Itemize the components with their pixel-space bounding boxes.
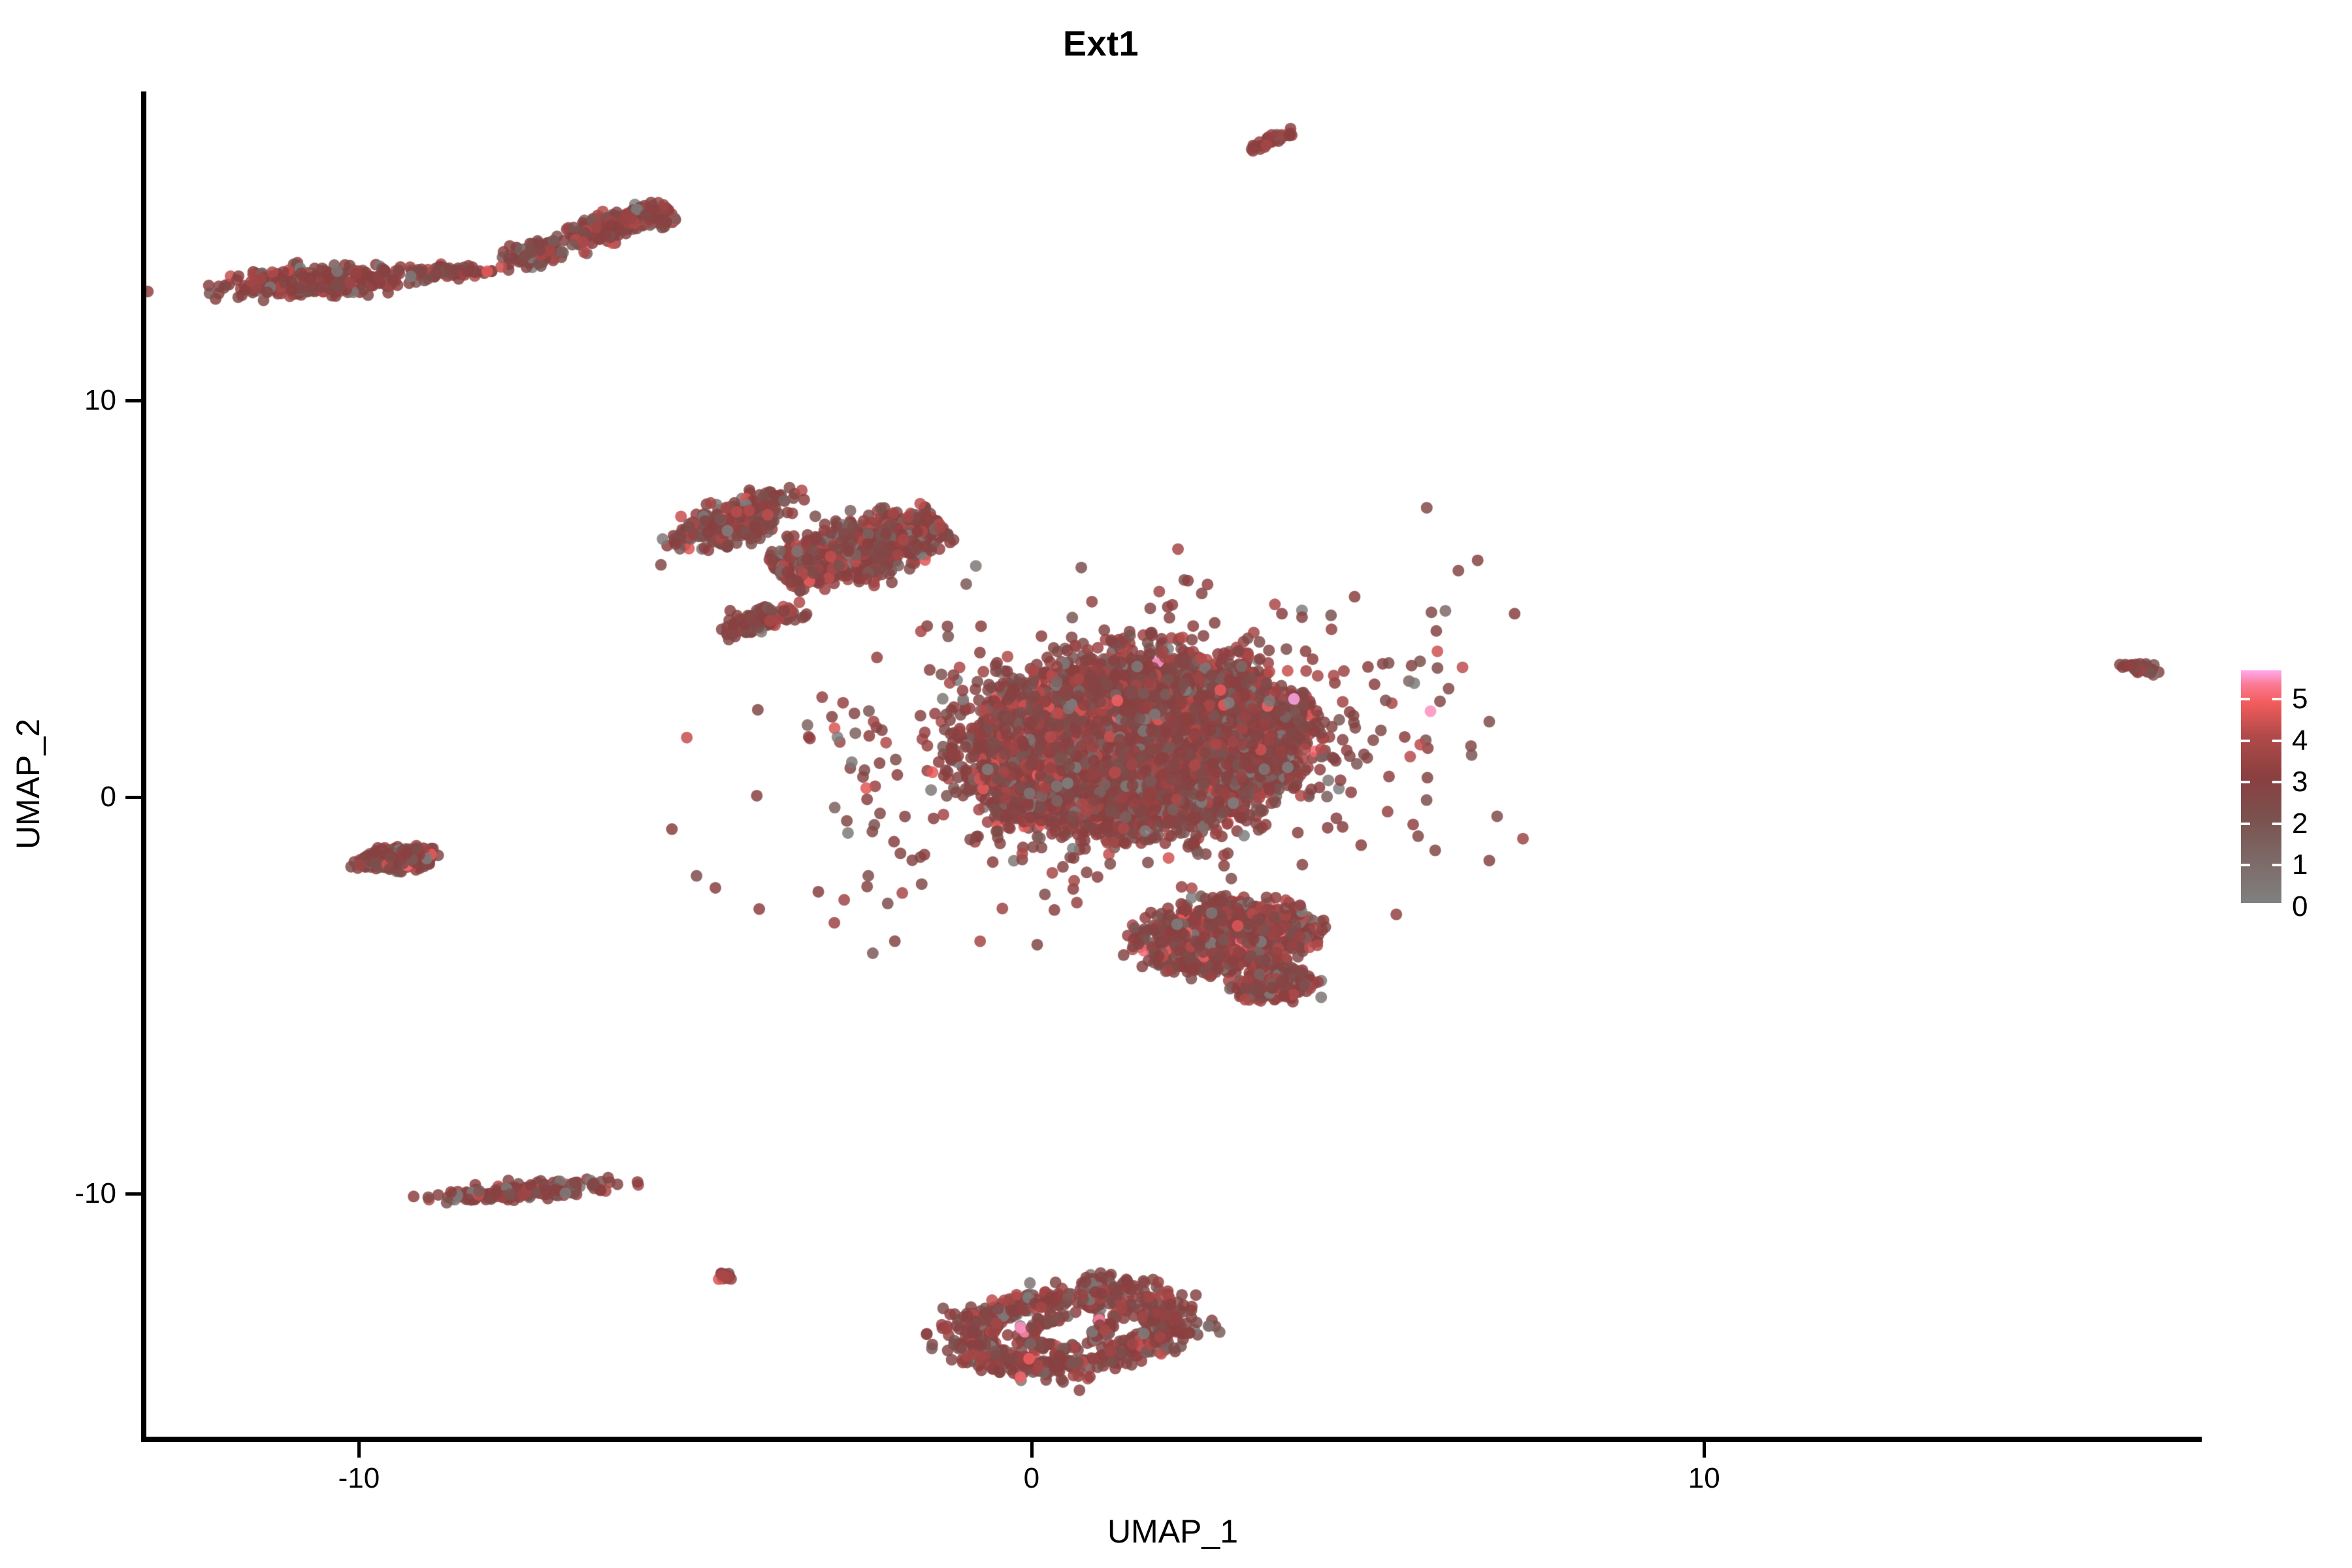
x-axis-line — [144, 1437, 2202, 1442]
umap-feature-plot: Ext1 -10010 100-10 UMAP_1 UMAP_2 543210 — [0, 0, 2352, 1568]
y-tick-label: 0 — [101, 781, 116, 813]
page-title: Ext1 — [0, 24, 2202, 64]
x-tick-mark — [1703, 1442, 1706, 1458]
legend-tick-mark — [2272, 698, 2281, 700]
plot-panel — [144, 91, 2202, 1439]
y-axis-line — [141, 91, 146, 1442]
legend-tick-mark — [2272, 781, 2281, 783]
legend-tick-mark — [2272, 864, 2281, 866]
y-tick-mark — [125, 1192, 141, 1196]
legend-tick-label: 3 — [2292, 766, 2308, 798]
x-tick-label: 10 — [1688, 1462, 1720, 1495]
color-legend: 543210 — [2241, 666, 2345, 915]
legend-tick-mark — [2241, 823, 2250, 825]
legend-tick-label: 2 — [2292, 808, 2308, 840]
x-tick-mark — [1030, 1442, 1034, 1458]
legend-tick-mark — [2241, 781, 2250, 783]
legend-tick-mark — [2241, 740, 2250, 742]
legend-tick-mark — [2241, 698, 2250, 700]
y-tick-mark — [125, 796, 141, 799]
legend-tick-label: 4 — [2292, 725, 2308, 757]
y-axis-title: UMAP_2 — [0, 0, 56, 1568]
y-tick-label: -10 — [74, 1177, 116, 1210]
scatter-points-layer — [144, 91, 2202, 1439]
y-tick-mark — [125, 399, 141, 402]
legend-tick-mark — [2241, 864, 2250, 866]
x-tick-mark — [357, 1442, 361, 1458]
x-axis-title: UMAP_1 — [144, 1512, 2202, 1550]
legend-tick-mark — [2272, 740, 2281, 742]
legend-tick-label: 0 — [2292, 890, 2308, 923]
legend-tick-label: 5 — [2292, 683, 2308, 715]
scatter-canvas — [144, 91, 2202, 1439]
legend-colorbar — [2241, 670, 2281, 903]
legend-tick-mark — [2272, 906, 2281, 908]
x-tick-label: 0 — [1024, 1462, 1039, 1495]
legend-tick-mark — [2241, 906, 2250, 908]
legend-tick-mark — [2272, 823, 2281, 825]
legend-tick-label: 1 — [2292, 849, 2308, 881]
x-tick-label: -10 — [338, 1462, 380, 1495]
y-tick-label: 10 — [84, 384, 116, 417]
